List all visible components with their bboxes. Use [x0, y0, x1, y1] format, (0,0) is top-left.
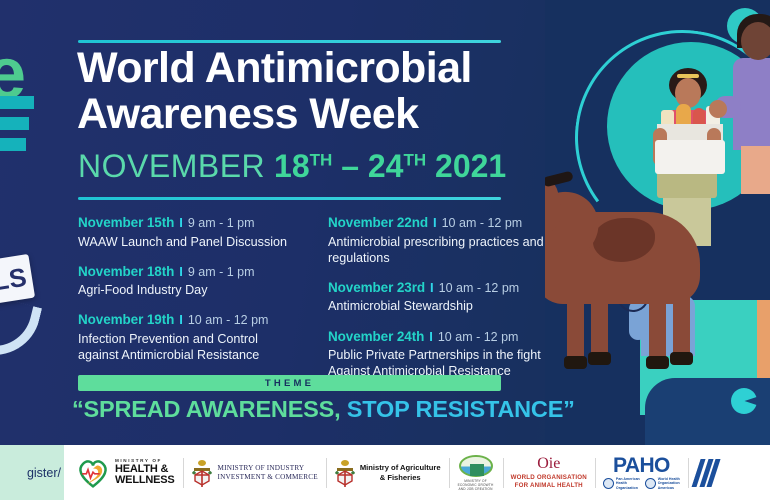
schedule-item: November 18thI9 am - 1 pm Agri-Food Indu… — [78, 263, 306, 299]
rule-middle — [78, 197, 501, 200]
logo-partner-cropped — [688, 452, 734, 494]
register-chip[interactable]: gister/ — [0, 445, 64, 500]
paho-badge: Pan American Health Organization — [603, 477, 640, 490]
schedule-desc: WAAW Launch and Panel Discussion — [78, 234, 300, 250]
schedule-day: November 23rd — [328, 280, 425, 295]
logo-ministry-agriculture: Ministry of Agriculture & Fisheries — [326, 452, 449, 494]
schedule-sep: I — [433, 215, 437, 230]
logo-paho-b1-l3: Organization — [616, 486, 640, 490]
environment-icon: MINISTRY OF ECONOMIC GROWTH AND JOB CREA… — [457, 455, 495, 491]
date-range: NOVEMBER 18TH – 24TH 2021 — [78, 150, 506, 182]
schedule-day: November 24th — [328, 329, 424, 344]
cow-horn — [545, 171, 574, 188]
schedule-sep: I — [179, 264, 183, 279]
schedule-sep: I — [179, 215, 183, 230]
logo-agriculture-line1: Ministry of Agriculture — [360, 463, 441, 472]
date-day-2: 24 — [368, 148, 404, 184]
waaw-poster: e LS World Antimicrobial Awareness Week … — [0, 0, 770, 500]
person-right-head — [741, 22, 770, 60]
schedule-item: November 23rdI10 am - 12 pm Antimicrobia… — [328, 279, 556, 315]
schedule-sep: I — [430, 280, 434, 295]
logo-agriculture-line2: & Fisheries — [360, 473, 441, 482]
woman-headband — [677, 74, 699, 78]
logo-paho-b2-l3: Americas — [658, 486, 680, 490]
jamaica-crest-icon — [334, 459, 356, 487]
schedule-desc: Agri-Food Industry Day — [78, 282, 300, 298]
cow-leg — [673, 296, 690, 358]
schedule-item: November 19thI10 am - 12 pm Infection Pr… — [78, 311, 306, 363]
schedule-day: November 19th — [78, 312, 174, 327]
logo-paho-mark: PAHO — [603, 455, 680, 476]
date-year: 2021 — [435, 148, 506, 184]
logo-mohw-line3: WELLNESS — [115, 475, 175, 486]
logo-ministry-environment: MINISTRY OF ECONOMIC GROWTH AND JOB CREA… — [449, 452, 503, 494]
date-day-1-suffix: TH — [310, 150, 333, 169]
register-text: gister/ — [27, 466, 61, 480]
globe-icon — [645, 478, 656, 489]
schedule: November 15thI9 am - 1 pm WAAW Launch an… — [78, 214, 556, 392]
schedule-day: November 22nd — [328, 215, 428, 230]
theme-label: THEME — [265, 378, 314, 389]
schedule-time: 10 am - 12 pm — [442, 216, 523, 230]
logo-ministry-health-wellness: MINISTRY OF HEALTH & WELLNESS — [68, 452, 183, 494]
woman-head — [675, 78, 701, 108]
theme-quote-part2: STOP RESISTANCE” — [347, 396, 575, 422]
schedule-day: November 15th — [78, 215, 174, 230]
cow-leg — [649, 296, 666, 362]
person-right-lower — [741, 146, 770, 194]
logo-oie-mark: Oie — [511, 456, 587, 472]
schedule-desc: Antimicrobial Stewardship — [328, 298, 550, 314]
heart-icon — [76, 458, 110, 488]
schedule-sep: I — [179, 312, 183, 327]
schedule-desc: Infection Prevention and Control against… — [78, 331, 300, 363]
logo-oie-line2: FOR ANIMAL HEALTH — [511, 482, 587, 490]
cow-leg — [591, 296, 608, 358]
schedule-time: 10 am - 12 pm — [188, 313, 269, 327]
logo-industry-line1: MINISTRY OF INDUSTRY — [218, 464, 318, 473]
schedule-day: November 18th — [78, 264, 174, 279]
jamaica-crest-icon — [191, 459, 213, 487]
logo-oie: Oie WORLD ORGANISATION FOR ANIMAL HEALTH — [503, 452, 595, 494]
rule-top — [78, 40, 501, 43]
date-day-1: 18 — [274, 148, 310, 184]
schedule-sep: I — [429, 329, 433, 344]
schedule-column-right: November 22ndI10 am - 12 pm Antimicrobia… — [328, 214, 556, 392]
illustration — [545, 0, 770, 445]
page-title: World Antimicrobial Awareness Week — [77, 46, 527, 137]
schedule-item: November 15thI9 am - 1 pm WAAW Launch an… — [78, 214, 306, 250]
date-dash: – — [341, 148, 359, 184]
theme-banner: THEME — [78, 375, 501, 391]
schedule-time: 9 am - 1 pm — [188, 216, 255, 230]
cow-leg — [567, 296, 584, 362]
logo-environment-caption: MINISTRY OF ECONOMIC GROWTH AND JOB CREA… — [457, 479, 495, 491]
who-badge: World Health Organization Americas — [645, 477, 680, 490]
schedule-desc: Antimicrobial prescribing practices and … — [328, 234, 550, 266]
theme-quote: “SPREAD AWARENESS, STOP RESISTANCE” — [72, 396, 532, 423]
schedule-item: November 24thI10 am - 12 pm Public Priva… — [328, 328, 556, 380]
cow-hoof — [670, 352, 693, 365]
logo-oie-line1: WORLD ORGANISATION — [511, 474, 587, 482]
globe-icon — [603, 478, 614, 489]
person-right-hand — [709, 100, 727, 118]
logo-bar: gister/ MINISTRY OF HEALTH & WEL — [0, 445, 770, 500]
decor-bar-1 — [0, 96, 34, 109]
decor-bar-3 — [0, 138, 26, 151]
logo-list: MINISTRY OF HEALTH & WELLNESS MINISTRY — [64, 445, 770, 500]
logo-paho: PAHO Pan American Health Organization — [595, 452, 688, 494]
cow-hoof — [646, 356, 669, 369]
grocery-box — [655, 140, 725, 174]
schedule-time: 9 am - 1 pm — [188, 265, 255, 279]
logo-ministry-industry: MINISTRY OF INDUSTRY INVESTMENT & COMMER… — [183, 452, 326, 494]
schedule-item: November 22ndI10 am - 12 pm Antimicrobia… — [328, 214, 556, 266]
title-line-1: World Antimicrobial — [77, 46, 527, 92]
schedule-time: 10 am - 12 pm — [438, 330, 519, 344]
title-line-2: Awareness Week — [77, 92, 527, 138]
schedule-column-left: November 15thI9 am - 1 pm WAAW Launch an… — [78, 214, 306, 392]
cow-hoof — [588, 352, 611, 365]
logo-industry-line2: INVESTMENT & COMMERCE — [218, 473, 318, 482]
schedule-time: 10 am - 12 pm — [439, 281, 520, 295]
date-day-2-suffix: TH — [403, 150, 426, 169]
decor-bar-2 — [0, 117, 29, 130]
stripes-icon — [691, 459, 730, 487]
cow-hoof — [564, 356, 587, 369]
theme-quote-part1: “SPREAD AWARENESS, — [72, 396, 347, 422]
date-month: NOVEMBER — [78, 148, 265, 184]
